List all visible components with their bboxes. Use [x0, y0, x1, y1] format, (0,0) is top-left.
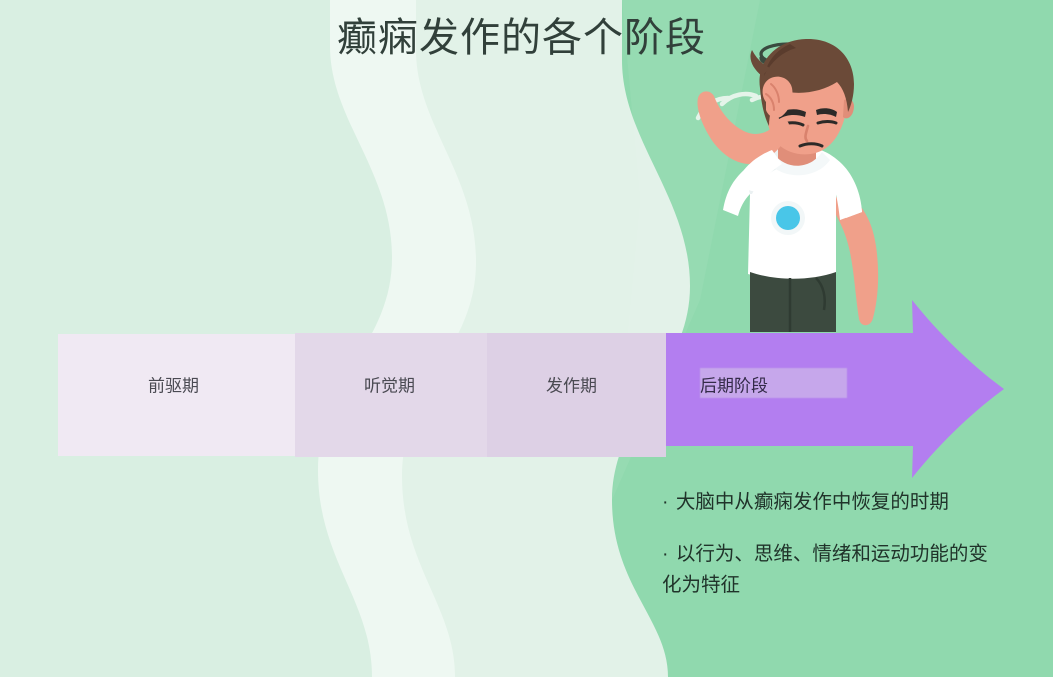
bullet-marker: · [662, 491, 671, 513]
bullet-item: · 以行为、思维、情绪和运动功能的变化为特征 [662, 539, 992, 602]
timeline-label-1: 前驱期 [148, 372, 199, 397]
bullet-item: · 大脑中从癫痫发作中恢复的时期 [662, 487, 992, 519]
eye-right [818, 122, 836, 124]
shirt-logo-icon [776, 206, 800, 230]
timeline-arrow [58, 292, 1018, 488]
timeline-label-4: 后期阶段 [700, 372, 768, 397]
bullet-text: 以行为、思维、情绪和运动功能的变化为特征 [662, 543, 988, 597]
slide-canvas: 癫痫发作的各个阶段 [0, 0, 1053, 677]
timeline-label-2: 听觉期 [364, 372, 415, 397]
detail-bullet-list: · 大脑中从癫痫发作中恢复的时期 · 以行为、思维、情绪和运动功能的变化为特征 [662, 487, 992, 602]
timeline-label-3: 发作期 [546, 372, 597, 397]
bullet-marker: · [662, 543, 671, 565]
bullet-text: 大脑中从癫痫发作中恢复的时期 [676, 491, 949, 513]
